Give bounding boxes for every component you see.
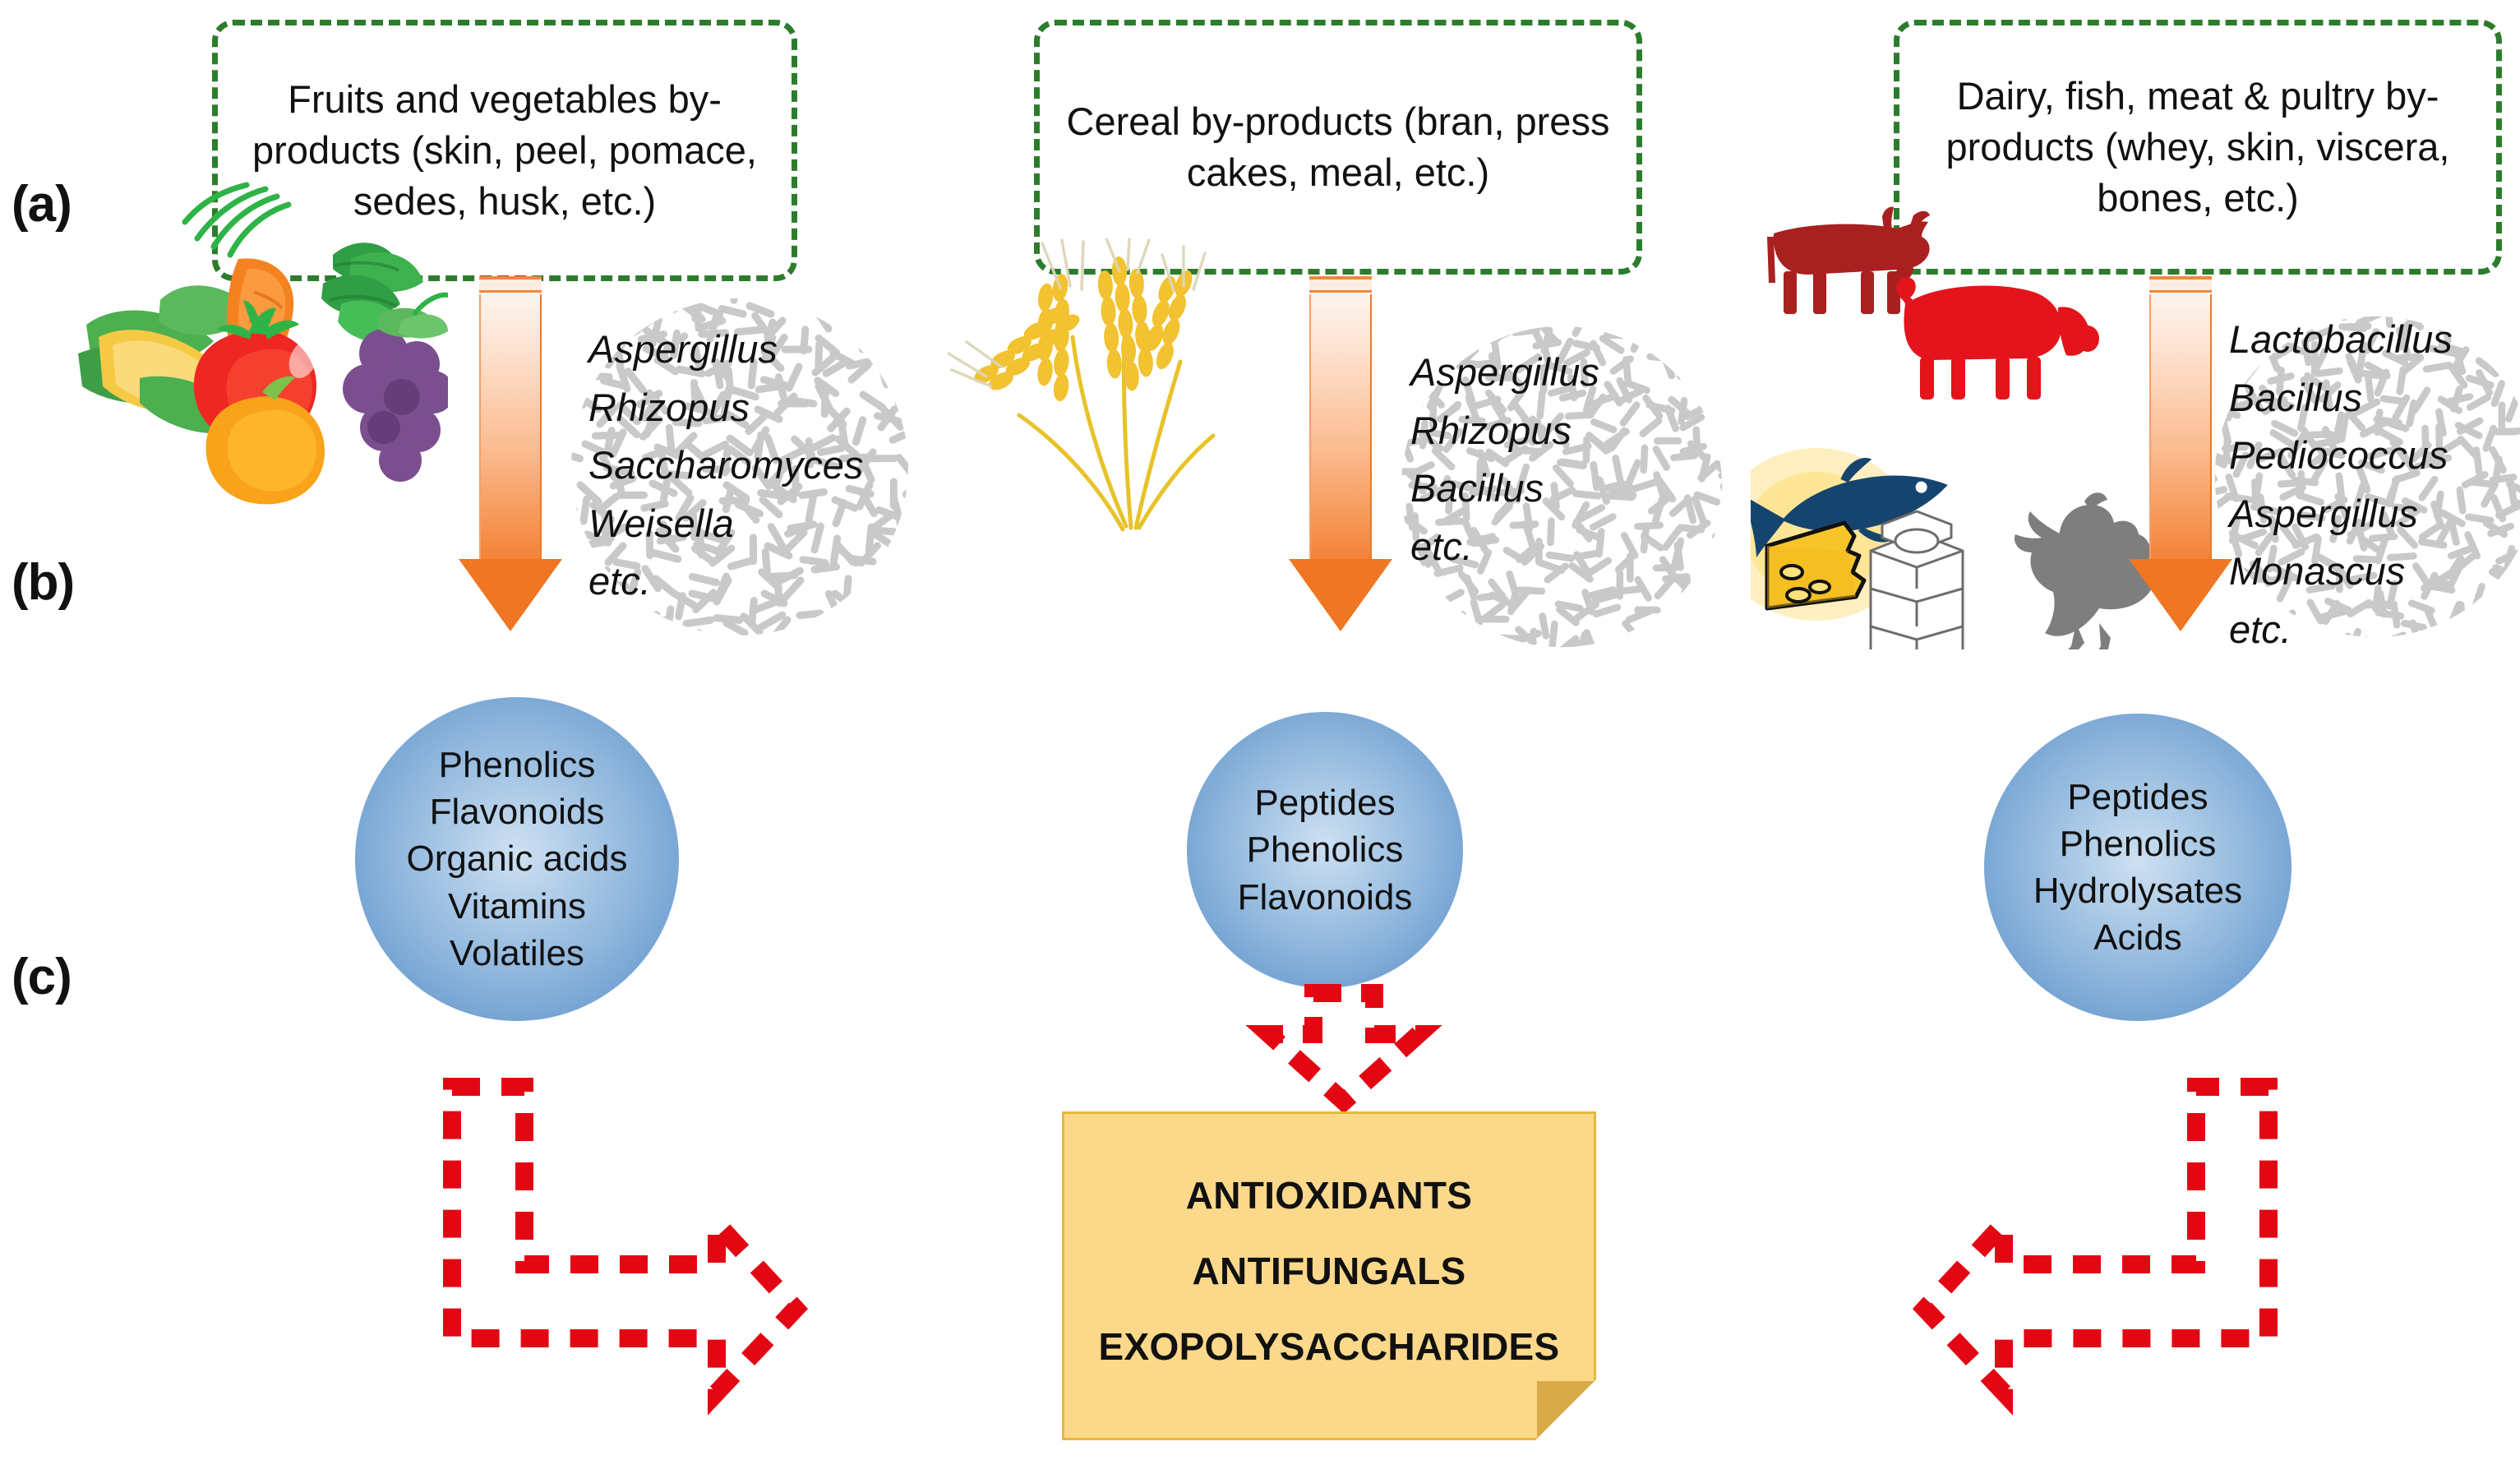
- source-box-cereal: Cereal by-products (bran, press cakes, m…: [1034, 20, 1642, 275]
- note-fold-corner: [1535, 1379, 1596, 1440]
- flow-arrow-center: [1225, 986, 1463, 1118]
- wheat-sheaf-icon: [937, 238, 1299, 567]
- microbe-list-1: Aspergillus Rhizopus Saccharomyces Weise…: [588, 321, 863, 611]
- output-line-exopolysaccharides: EXOPOLYSACCHARIDES: [1099, 1324, 1560, 1369]
- metabolite-sphere-2: Peptides Phenolics Flavonoids: [1187, 712, 1463, 988]
- output-line-antioxidants: ANTIOXIDANTS: [1186, 1173, 1473, 1217]
- panel-label-b: (b): [12, 557, 74, 608]
- metabolite-sphere-3: Peptides Phenolics Hydrolysates Acids: [1984, 714, 2292, 1021]
- fermentation-arrow-2: [1287, 276, 1394, 633]
- output-line-antifungals: ANTIFUNGALS: [1193, 1249, 1466, 1293]
- microbe-list-3: Lactobacillus Bacillus Pediococcus Asper…: [2229, 311, 2453, 658]
- panel-label-c: (c): [12, 952, 72, 1003]
- metabolite-sphere-1: Phenolics Flavonoids Organic acids Vitam…: [355, 697, 679, 1021]
- output-products-note: ANTIOXIDANTS ANTIFUNGALS EXOPOLYSACCHARI…: [1062, 1111, 1596, 1440]
- figure-canvas: (a) (b) (c) Fruits and vegetables by-pro…: [0, 0, 2520, 1460]
- flow-arrow-left: [427, 1044, 855, 1373]
- fermentation-arrow-1: [457, 276, 564, 633]
- microbe-list-2: Aspergillus Rhizopus Bacillus etc.: [1410, 344, 1599, 575]
- flow-arrow-right: [1866, 1044, 2293, 1373]
- vegetables-cluster-icon: [62, 177, 448, 506]
